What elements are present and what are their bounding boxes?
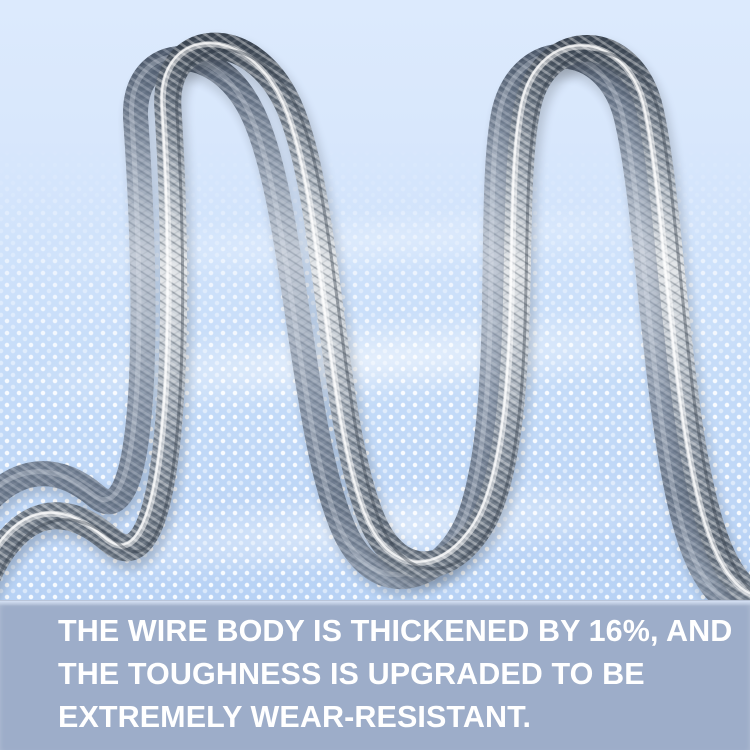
caption-line-3: EXTREMELY WEAR-RESISTANT. [58,696,730,739]
caption-band: THE WIRE BODY IS THICKENED BY 16%, AND T… [0,600,750,750]
product-feature-banner: THE WIRE BODY IS THICKENED BY 16%, AND T… [0,0,750,750]
caption-text: THE WIRE BODY IS THICKENED BY 16%, AND T… [58,610,730,739]
caption-line-1: THE WIRE BODY IS THICKENED BY 16%, AND [58,610,730,653]
caption-line-2: THE TOUGHNESS IS UPGRADED TO BE [58,653,730,696]
